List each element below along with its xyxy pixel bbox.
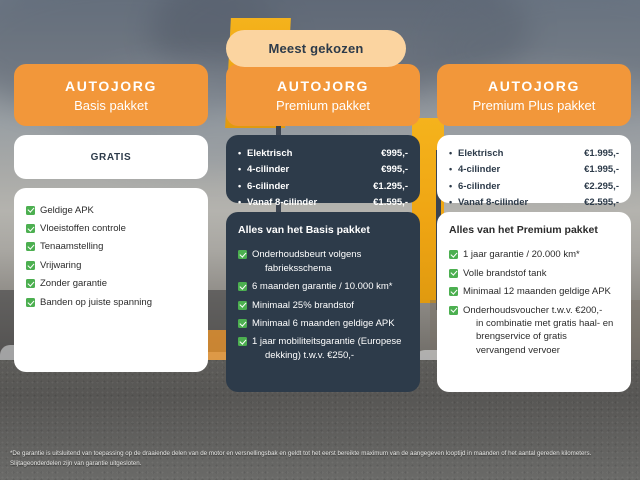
price-row: • 4-cilinder €1.995,- [449, 162, 619, 179]
package-column-basis[interactable]: AUTOJORG Basis pakket GRATIS Geldige APK… [14, 64, 208, 372]
bullet-icon: • [449, 165, 458, 174]
package-header-basis: AUTOJORG Basis pakket [14, 64, 208, 126]
price-row: • Elektrisch €1.995,- [449, 145, 619, 162]
list-item-label: Vloeistoffen controle [40, 222, 196, 235]
pricing-board: Meest gekozen AUTOJORG Basis pakket GRAT… [0, 0, 640, 480]
price-row-amount: €1.995,- [584, 165, 619, 175]
check-icon [26, 298, 35, 307]
list-item: Geldige APK [26, 201, 196, 219]
list-item: 6 maanden garantie / 10.000 km* [238, 278, 408, 296]
package-name: Basis pakket [74, 99, 148, 112]
package-header-premium-plus: AUTOJORG Premium Plus pakket [437, 64, 631, 126]
price-row-label: 6-cilinder [247, 182, 373, 192]
check-icon [238, 250, 247, 259]
feature-box-title: Alles van het Premium pakket [449, 225, 619, 237]
most-chosen-badge: Meest gekozen [226, 30, 406, 67]
package-name: Premium Plus pakket [473, 99, 596, 112]
price-box-premium-plus: • Elektrisch €1.995,- • 4-cilinder €1.99… [437, 135, 631, 203]
list-item: Vrijwaring [26, 256, 196, 274]
check-icon [238, 282, 247, 291]
price-row-label: 4-cilinder [458, 165, 584, 175]
check-icon [26, 279, 35, 288]
price-row: • 4-cilinder €995,- [238, 162, 408, 179]
list-item: Tenaamstelling [26, 238, 196, 256]
check-icon [26, 224, 35, 233]
list-item: 1 jaar mobiliteitsgarantie (Europese dek… [238, 333, 408, 365]
list-item: Minimaal 25% brandstof [238, 296, 408, 314]
list-item-label: Tenaamstelling [40, 240, 196, 253]
list-item-label: Vrijwaring [40, 259, 196, 272]
package-name: Premium pakket [276, 99, 370, 112]
bullet-icon: • [449, 149, 458, 158]
list-item: Onderhoudsbeurt volgens fabrieksschema [238, 246, 408, 278]
price-row-amount: €1.595,- [373, 198, 408, 208]
brand-name: AUTOJORG [277, 79, 369, 93]
list-item: Zonder garantie [26, 275, 196, 293]
bullet-icon: • [238, 149, 247, 158]
brand-name: AUTOJORG [488, 79, 580, 93]
feature-box-basis: Geldige APK Vloeistoffen controle Tenaam… [14, 188, 208, 372]
bullet-icon: • [238, 165, 247, 174]
list-item-label: Zonder garantie [40, 277, 196, 290]
price-row-label: Vanaf 8-cilinder [247, 198, 373, 208]
check-icon [26, 206, 35, 215]
list-item: Banden op juiste spanning [26, 293, 196, 311]
list-item-label: 1 jaar garantie / 20.000 km* [463, 248, 619, 261]
price-row-label: Vanaf 8-cilinder [458, 198, 584, 208]
feature-box-premium: Alles van het Basis pakket Onderhoudsbeu… [226, 212, 420, 392]
list-item: Onderhoudsvoucher t.w.v. €200,- in combi… [449, 301, 619, 360]
list-item: Minimaal 6 maanden geldige APK [238, 314, 408, 332]
list-item: Volle brandstof tank [449, 264, 619, 282]
price-row-amount: €2.595,- [584, 198, 619, 208]
check-icon [238, 319, 247, 328]
package-column-premium-plus[interactable]: AUTOJORG Premium Plus pakket • Elektrisc… [437, 64, 631, 392]
list-item-continuation: dekking) t.w.v. €250,- [252, 349, 408, 362]
price-row: • Vanaf 8-cilinder €2.595,- [449, 195, 619, 212]
price-label-gratis: GRATIS [91, 152, 132, 163]
list-item-continuation: fabrieksschema [252, 262, 408, 275]
check-icon [26, 261, 35, 270]
feature-box-title: Alles van het Basis pakket [238, 225, 408, 237]
price-row-amount: €1.995,- [584, 149, 619, 159]
bullet-icon: • [238, 182, 247, 191]
list-item-label: 1 jaar mobiliteitsgarantie (Europese [252, 336, 401, 347]
list-item-label: Volle brandstof tank [463, 267, 619, 280]
price-row-amount: €995,- [381, 149, 408, 159]
list-item: 1 jaar garantie / 20.000 km* [449, 246, 619, 264]
price-row: • 6-cilinder €2.295,- [449, 178, 619, 195]
list-item: Vloeistoffen controle [26, 219, 196, 237]
check-icon [26, 242, 35, 251]
bullet-icon: • [238, 198, 247, 207]
price-row-label: Elektrisch [458, 149, 584, 159]
price-row-amount: €995,- [381, 165, 408, 175]
bullet-icon: • [449, 198, 458, 207]
most-chosen-badge-label: Meest gekozen [268, 41, 363, 56]
price-row-amount: €1.295,- [373, 182, 408, 192]
list-item-label: Minimaal 12 maanden geldige APK [463, 285, 619, 298]
disclaimer-text: *De garantie is uitsluitend van toepassi… [10, 449, 630, 469]
list-item-continuation: in combinatie met gratis haal- en brengs… [463, 317, 619, 357]
price-row: • Vanaf 8-cilinder €1.595,- [238, 195, 408, 212]
check-icon [449, 306, 458, 315]
list-item-label: Onderhoudsbeurt volgens [252, 249, 361, 260]
check-icon [449, 287, 458, 296]
price-box-basis: GRATIS [14, 135, 208, 179]
list-item-label: Banden op juiste spanning [40, 296, 196, 309]
price-row-amount: €2.295,- [584, 182, 619, 192]
package-column-premium[interactable]: AUTOJORG Premium pakket • Elektrisch €99… [226, 64, 420, 392]
list-item: Minimaal 12 maanden geldige APK [449, 283, 619, 301]
price-row-label: 4-cilinder [247, 165, 381, 175]
check-icon [449, 269, 458, 278]
package-header-premium: AUTOJORG Premium pakket [226, 64, 420, 126]
feature-box-premium-plus: Alles van het Premium pakket 1 jaar gara… [437, 212, 631, 392]
list-item-label: 6 maanden garantie / 10.000 km* [252, 280, 408, 293]
brand-name: AUTOJORG [65, 79, 157, 93]
check-icon [449, 250, 458, 259]
price-row-label: Elektrisch [247, 149, 381, 159]
list-item-label: Minimaal 25% brandstof [252, 299, 408, 312]
check-icon [238, 337, 247, 346]
price-row: • Elektrisch €995,- [238, 145, 408, 162]
list-item-label: Onderhoudsvoucher t.w.v. €200,- [463, 305, 602, 316]
list-item-label: Minimaal 6 maanden geldige APK [252, 317, 408, 330]
bullet-icon: • [449, 182, 458, 191]
price-row-label: 6-cilinder [458, 182, 584, 192]
price-row: • 6-cilinder €1.295,- [238, 178, 408, 195]
price-box-premium: • Elektrisch €995,- • 4-cilinder €995,- … [226, 135, 420, 203]
list-item-label: Geldige APK [40, 204, 196, 217]
check-icon [238, 301, 247, 310]
